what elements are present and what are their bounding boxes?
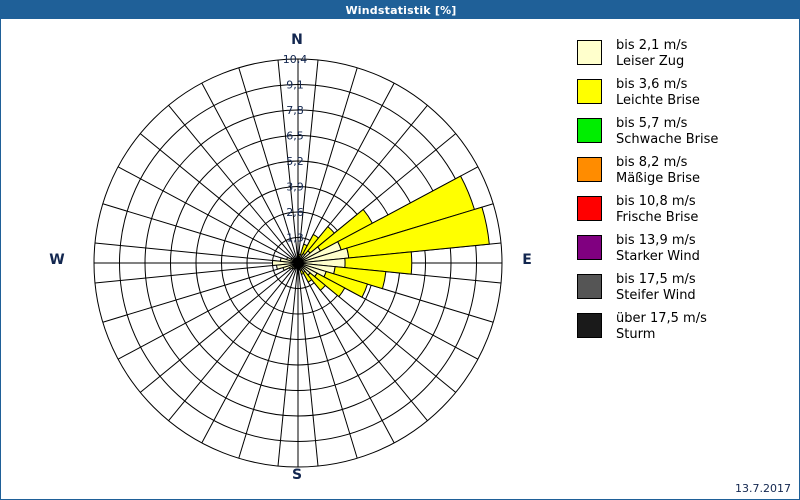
legend-beaufort-name: Mäßige Brise: [616, 171, 700, 187]
grid-spoke: [202, 83, 298, 263]
legend-item: bis 8,2 m/sMäßige Brise: [577, 155, 792, 187]
legend-label: bis 17,5 m/sSteifer Wind: [616, 272, 696, 304]
window-titlebar: Windstatistik [%]: [1, 1, 800, 19]
radial-tick-label: 9,1: [286, 79, 304, 92]
legend-color-swatch: [577, 79, 602, 104]
legend-speed-range: bis 17,5 m/s: [616, 272, 696, 288]
radial-tick-label: 2,6: [286, 206, 304, 219]
radial-tick-label: 3,9: [286, 181, 304, 194]
compass-label-west: W: [37, 252, 77, 268]
legend-color-swatch: [577, 274, 602, 299]
window-title: Windstatistik [%]: [345, 4, 456, 17]
legend-speed-range: bis 5,7 m/s: [616, 116, 718, 132]
compass-label-north: N: [277, 32, 317, 48]
legend-speed-range: bis 8,2 m/s: [616, 155, 700, 171]
grid-spoke: [239, 263, 298, 458]
legend-speed-range: bis 3,6 m/s: [616, 77, 700, 93]
radial-tick-label: 7,8: [286, 104, 304, 117]
legend-label: bis 5,7 m/sSchwache Brise: [616, 116, 718, 148]
legend-beaufort-name: Steifer Wind: [616, 288, 696, 304]
grid-spoke: [118, 167, 298, 263]
legend: bis 2,1 m/sLeiser Zugbis 3,6 m/sLeichte …: [577, 38, 792, 350]
grid-spoke: [140, 263, 298, 392]
compass-label-east: E: [507, 252, 547, 268]
grid-spoke: [298, 263, 394, 443]
windrose-svg: 1,32,63,95,26,57,89,110,4: [2, 20, 562, 499]
windrose-chart: 1,32,63,95,26,57,89,110,4 N E S W: [2, 20, 562, 499]
legend-color-swatch: [577, 196, 602, 221]
legend-label: bis 8,2 m/sMäßige Brise: [616, 155, 700, 187]
windrose-petal-segment: [299, 269, 300, 270]
legend-label: bis 2,1 m/sLeiser Zug: [616, 38, 687, 70]
date-stamp: 13.7.2017: [735, 482, 791, 495]
legend-item: bis 13,9 m/sStarker Wind: [577, 233, 792, 265]
grid-spoke: [169, 263, 298, 421]
grid-spoke: [103, 204, 298, 263]
grid-spoke: [169, 105, 298, 263]
grid-spoke: [298, 263, 357, 458]
legend-speed-range: bis 13,9 m/s: [616, 233, 700, 249]
grid-spoke: [118, 263, 298, 359]
compass-label-south: S: [277, 467, 317, 483]
legend-item: bis 17,5 m/sSteifer Wind: [577, 272, 792, 304]
legend-beaufort-name: Leichte Brise: [616, 93, 700, 109]
radial-tick-label: 6,5: [286, 130, 304, 143]
legend-speed-range: bis 2,1 m/s: [616, 38, 687, 54]
radial-tick-label: 10,4: [283, 53, 308, 66]
wind-statistics-window: Windstatistik [%] 1,32,63,95,26,57,89,11…: [0, 0, 800, 500]
legend-item: bis 2,1 m/sLeiser Zug: [577, 38, 792, 70]
legend-color-swatch: [577, 313, 602, 338]
legend-beaufort-name: Schwache Brise: [616, 132, 718, 148]
legend-label: über 17,5 m/sSturm: [616, 311, 707, 343]
grid-spoke: [202, 263, 298, 443]
legend-speed-range: über 17,5 m/s: [616, 311, 707, 327]
grid-spoke: [103, 263, 298, 322]
legend-item: über 17,5 m/sSturm: [577, 311, 792, 343]
legend-label: bis 10,8 m/sFrische Brise: [616, 194, 698, 226]
legend-beaufort-name: Starker Wind: [616, 249, 700, 265]
legend-beaufort-name: Leiser Zug: [616, 54, 687, 70]
legend-color-swatch: [577, 118, 602, 143]
legend-item: bis 10,8 m/sFrische Brise: [577, 194, 792, 226]
legend-item: bis 3,6 m/sLeichte Brise: [577, 77, 792, 109]
legend-beaufort-name: Frische Brise: [616, 210, 698, 226]
legend-label: bis 13,9 m/sStarker Wind: [616, 233, 700, 265]
legend-label: bis 3,6 m/sLeichte Brise: [616, 77, 700, 109]
legend-color-swatch: [577, 40, 602, 65]
legend-color-swatch: [577, 235, 602, 260]
legend-item: bis 5,7 m/sSchwache Brise: [577, 116, 792, 148]
legend-speed-range: bis 10,8 m/s: [616, 194, 698, 210]
radial-tick-label: 1,3: [286, 232, 304, 245]
radial-tick-label: 5,2: [286, 155, 304, 168]
window-content: 1,32,63,95,26,57,89,110,4 N E S W bis 2,…: [2, 20, 799, 499]
grid-spoke: [140, 134, 298, 263]
legend-color-swatch: [577, 157, 602, 182]
legend-beaufort-name: Sturm: [616, 327, 707, 343]
